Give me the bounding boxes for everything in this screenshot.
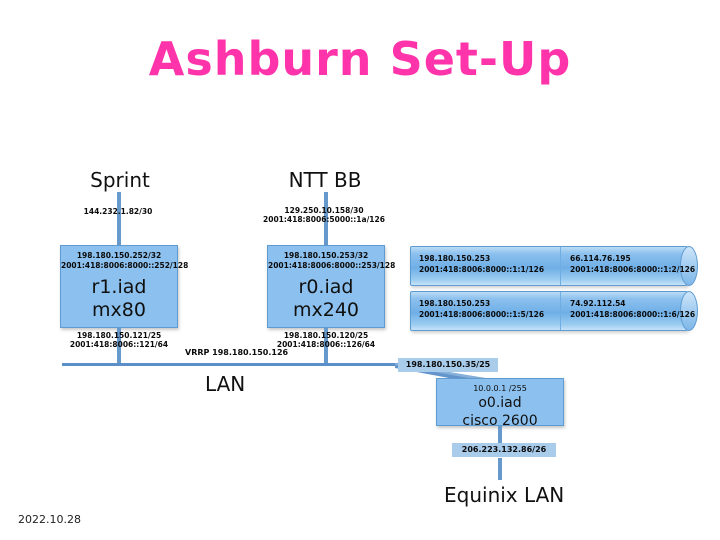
router-loopback-v4-r1: 198.180.150.252/32	[61, 251, 177, 261]
vrrp-label: VRRP 198.180.150.126	[185, 348, 288, 357]
tunnel-cylinder-1[interactable]: 198.180.150.253 2001:418:8006:8000::1:1/…	[410, 246, 698, 286]
switch-node-o0-iad[interactable]: 10.0.0.1 /255 o0.iad cisco 2600	[436, 378, 564, 426]
lan-bus-line	[62, 363, 402, 366]
router-loopback-v4-r0: 198.180.150.253/32	[268, 251, 384, 261]
tunnel-1-right-v6: 2001:418:8006:8000::1:2/126	[570, 265, 695, 275]
tunnel-1-right-v4: 66.114.76.195	[570, 254, 631, 264]
router-name-r1: r1.iad	[61, 276, 177, 298]
switch-downlink-label: 206.223.132.86/26	[452, 443, 556, 457]
router-node-r1-iad[interactable]: 198.180.150.252/32 2001:418:8006:8000::2…	[60, 245, 178, 328]
tunnel-2-right-v6: 2001:418:8006:8000::1:6/126	[570, 310, 695, 320]
link-sprint-to-r1	[117, 192, 121, 247]
tunnel-2-left-v6: 2001:418:8006:8000::1:5/126	[419, 310, 544, 320]
tunnel-divider-2	[560, 292, 561, 330]
tunnel-divider-1	[560, 247, 561, 285]
switch-uplink-label: 198.180.150.35/25	[398, 358, 498, 372]
tunnel-2-left-v4: 198.180.150.253	[419, 299, 490, 309]
router-model-r0: mx240	[268, 299, 384, 321]
router-node-r0-iad[interactable]: 198.180.150.253/32 2001:418:8006:8000::2…	[267, 245, 385, 328]
router-model-r1: mx80	[61, 299, 177, 321]
slide-canvas: Ashburn Set-Up Sprint 144.232.1.82/30 19…	[0, 0, 720, 540]
equinix-lan-caption: Equinix LAN	[444, 483, 564, 507]
lan-ip-v6-r1: 2001:418:8006::121/64	[55, 340, 183, 350]
page-title: Ashburn Set-Up	[0, 32, 720, 86]
tunnel-2-right-v4: 74.92.112.54	[570, 299, 626, 309]
router-name-r0: r0.iad	[268, 276, 384, 298]
router-loopback-v6-r0: 2001:418:8006:8000::253/128	[268, 261, 384, 271]
router-loopback-v6-r1: 2001:418:8006:8000::252/128	[61, 261, 177, 271]
link-switch-to-equinix-lower	[498, 458, 502, 480]
uplink-ip-ntt-v6: 2001:418:8006:5000::1a/126	[260, 215, 388, 225]
tunnel-1-left-v4: 198.180.150.253	[419, 254, 490, 264]
lan-caption: LAN	[205, 372, 245, 396]
uplink-ip-sprint-v4: 144.232.1.82/30	[59, 207, 177, 217]
switch-ip: 10.0.0.1 /255	[437, 384, 563, 393]
tunnel-1-left-v6: 2001:418:8006:8000::1:1/126	[419, 265, 544, 275]
provider-label-ntt: NTT BB	[265, 168, 385, 192]
provider-label-sprint: Sprint	[60, 168, 180, 192]
slide-date: 2022.10.28	[18, 513, 81, 526]
tunnel-cylinder-2[interactable]: 198.180.150.253 2001:418:8006:8000::1:5/…	[410, 291, 698, 331]
switch-name: o0.iad	[437, 395, 563, 413]
